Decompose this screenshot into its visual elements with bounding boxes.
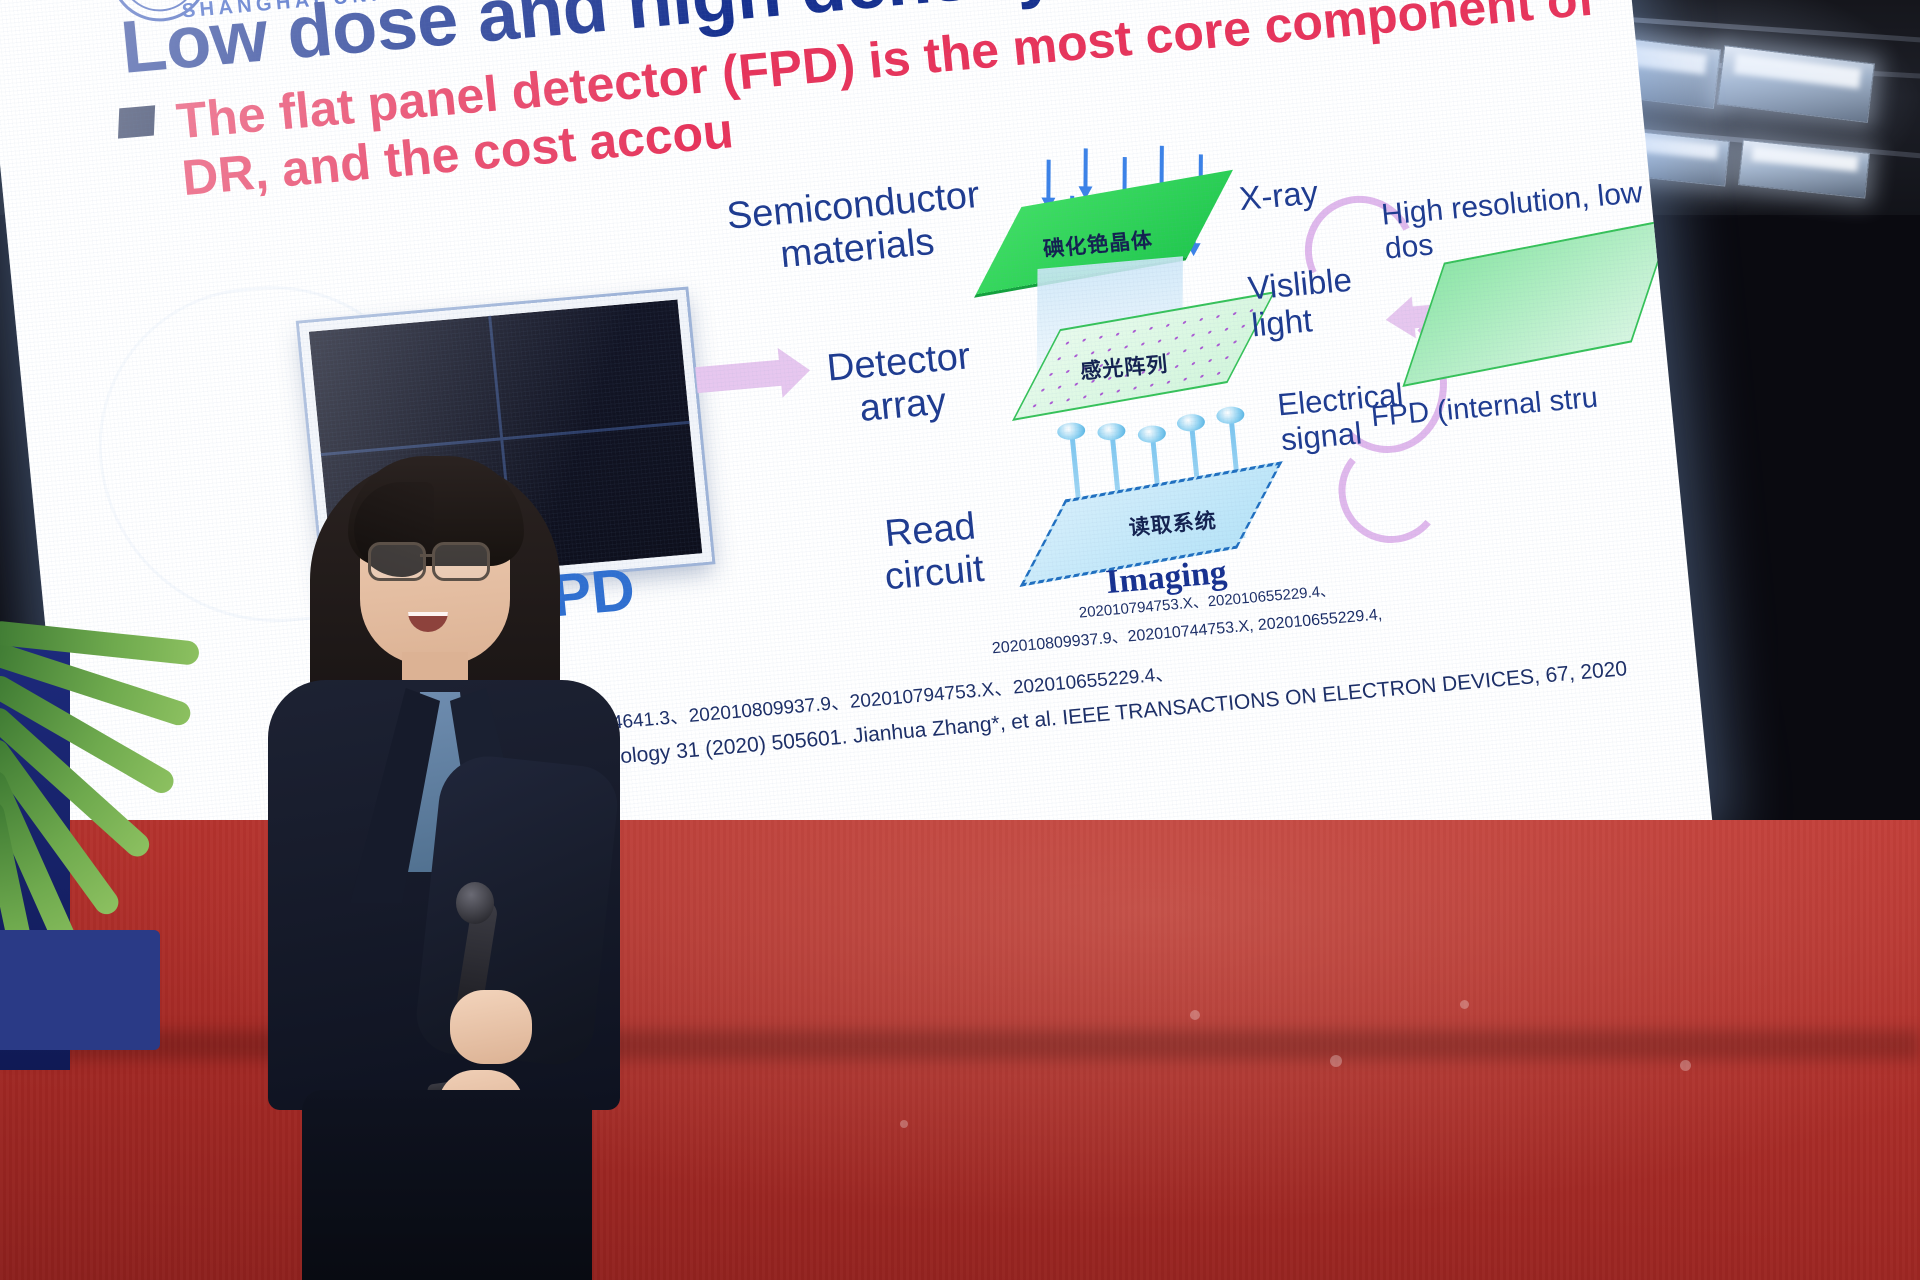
floor-speck xyxy=(1680,1060,1691,1071)
detector-array-label: Detector array xyxy=(782,332,1019,437)
floor-speck xyxy=(1190,1010,1200,1020)
xray-label: X-ray xyxy=(1238,174,1320,218)
eyeglasses-left-lens xyxy=(368,542,426,581)
microphone-head-icon xyxy=(456,882,494,924)
xray-arrow-icon xyxy=(1160,146,1164,186)
presenter-hand-upper xyxy=(450,990,532,1064)
eyeglasses-right-lens xyxy=(432,542,490,581)
conference-stage-scene: 上海大学 SHANGHAI UNIVERSITY Low dose and hi… xyxy=(0,0,1920,1280)
bullet-square-icon xyxy=(118,105,155,138)
presenter xyxy=(250,430,670,1280)
presenter-trousers xyxy=(302,1090,592,1280)
electron-icon xyxy=(1056,421,1086,440)
electron-icon xyxy=(1097,422,1127,441)
floor-speck xyxy=(900,1120,908,1128)
xray-arrow-icon xyxy=(1046,160,1050,200)
eyeglasses-bridge xyxy=(420,554,434,557)
electron-icon xyxy=(1216,406,1246,425)
floor-speck xyxy=(1460,1000,1469,1009)
decorative-plant xyxy=(0,600,240,1020)
electron-icon xyxy=(1137,424,1167,443)
electron-icon xyxy=(1176,413,1206,432)
visible-light-label: Vislible light xyxy=(1246,257,1413,344)
xray-arrow-icon xyxy=(1083,148,1087,188)
read-circuit-label: Read circuit xyxy=(829,501,1037,603)
pink-arrow-icon xyxy=(695,360,783,393)
semiconductor-materials-label: Semiconductor materials xyxy=(707,172,1004,282)
floor-speck xyxy=(1330,1055,1342,1067)
plant-pot xyxy=(0,930,160,1050)
